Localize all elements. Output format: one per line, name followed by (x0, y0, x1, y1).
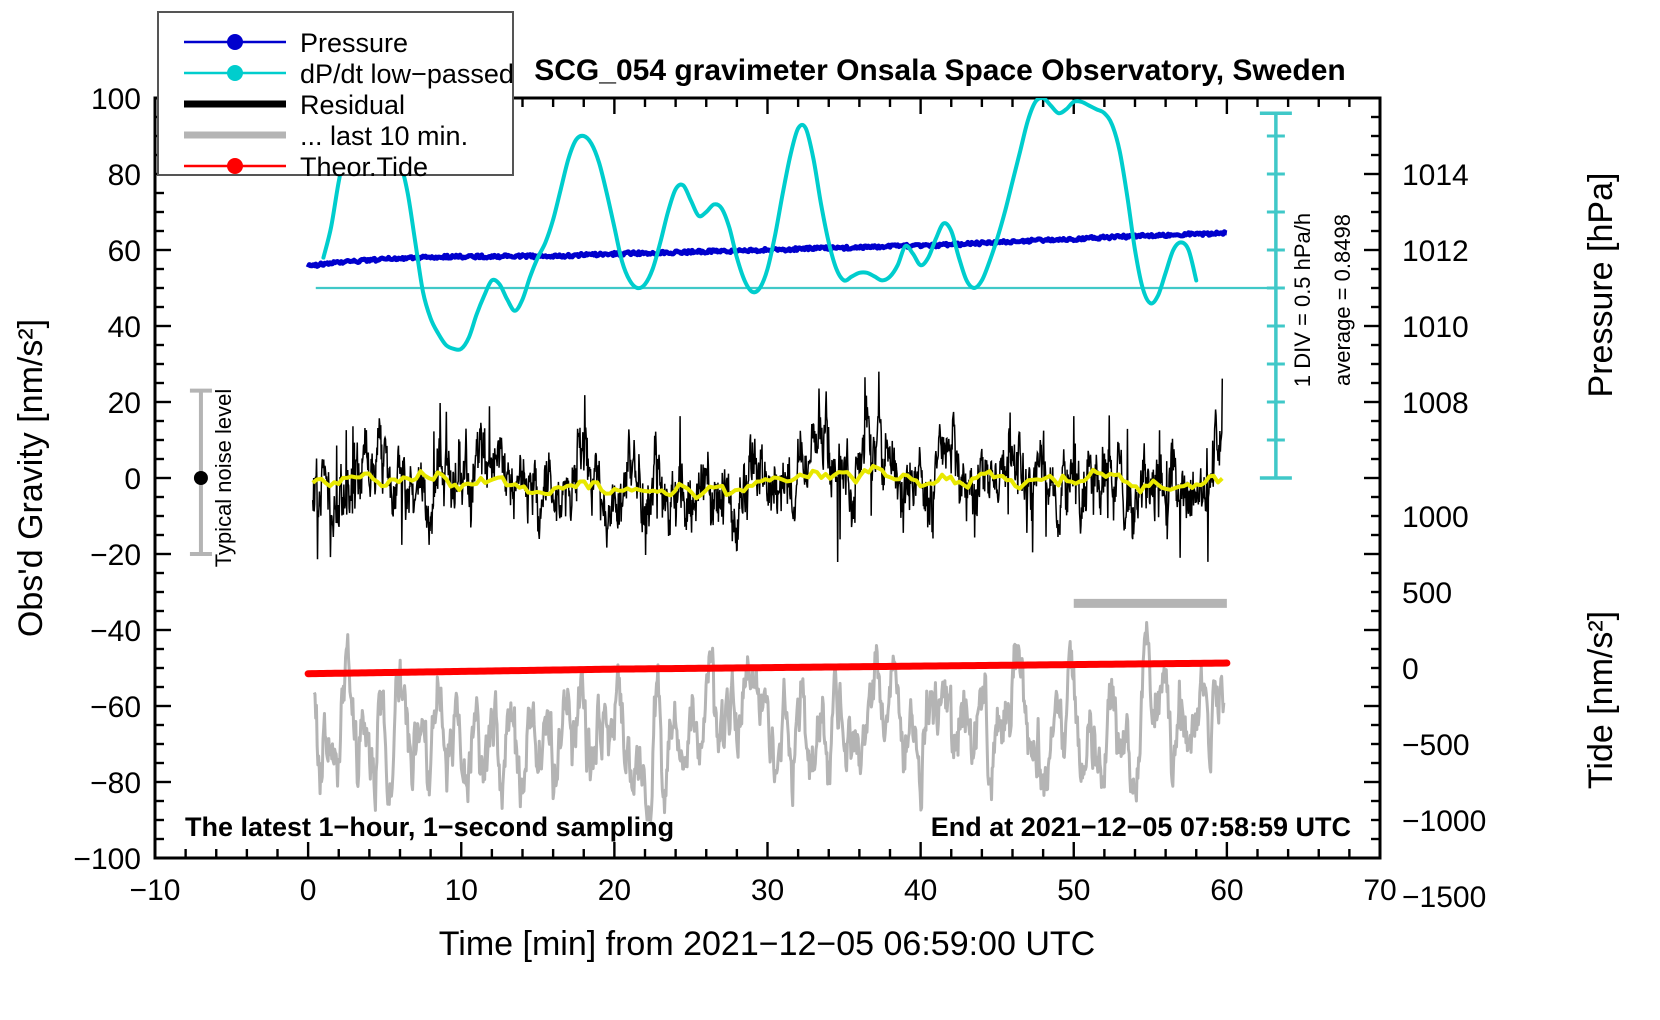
y-tick-label: 100 (91, 83, 141, 116)
tide-tick-label: −1500 (1402, 881, 1486, 914)
legend-marker-0[interactable] (227, 34, 243, 50)
x-tick-label: −10 (130, 874, 181, 907)
legend-marker-4[interactable] (227, 158, 243, 174)
y-tick-label: 80 (108, 159, 141, 192)
footer-note-left: The latest 1−hour, 1−second sampling (185, 812, 674, 842)
pressure-tick-label: 1012 (1402, 235, 1469, 268)
legend-label-3[interactable]: ... last 10 min. (300, 121, 468, 151)
tide-tick-label: 1000 (1402, 501, 1469, 534)
legend-marker-1[interactable] (227, 65, 243, 81)
noise-level-label: Typical noise level (211, 389, 236, 568)
legend-label-0[interactable]: Pressure (300, 28, 408, 58)
pressure-tick-label: 1014 (1402, 159, 1469, 192)
y-tick-label: −80 (90, 767, 141, 800)
noise-level-dot (194, 471, 208, 485)
tide-tick-label: −500 (1402, 729, 1470, 762)
legend-label-1[interactable]: dP/dt low−passed (300, 59, 514, 89)
x-tick-label: 20 (598, 874, 631, 907)
tide-tick-label: 0 (1402, 653, 1419, 686)
pressure-tick-label: 1010 (1402, 311, 1469, 344)
y-tick-label: 40 (108, 311, 141, 344)
x-tick-label: 60 (1210, 874, 1243, 907)
x-tick-label: 30 (751, 874, 784, 907)
y-tick-label: 60 (108, 235, 141, 268)
legend-label-4[interactable]: Theor.Tide (300, 152, 428, 182)
tide-tick-label: 500 (1402, 577, 1452, 610)
y-tick-label: −20 (90, 539, 141, 572)
y-tick-label: −100 (73, 843, 141, 876)
x-tick-label: 70 (1363, 874, 1396, 907)
x-tick-label: 40 (904, 874, 937, 907)
gravimeter-plot-page: −10010203040506070 100806040200−20−40−60… (0, 0, 1660, 1020)
legend[interactable]: PressuredP/dt low−passedResidual... last… (158, 12, 514, 182)
legend-label-2[interactable]: Residual (300, 90, 405, 120)
y-axis-left-title: Obs'd Gravity [nm/s²] (12, 319, 50, 637)
tide-tick-label: −1000 (1402, 805, 1486, 838)
x-tick-label: 50 (1057, 874, 1090, 907)
y-tick-label: −60 (90, 691, 141, 724)
scale-bar-average-label: average = 0.8498 (1330, 214, 1355, 386)
y-tick-label: −40 (90, 615, 141, 648)
plot-title: SCG_054 gravimeter Onsala Space Observat… (534, 54, 1346, 87)
footer-note-right: End at 2021−12−05 07:58:59 UTC (931, 812, 1351, 842)
y-tick-label: 0 (124, 463, 141, 496)
x-tick-label: 10 (445, 874, 478, 907)
scale-bar-div-label: 1 DIV = 0.5 hPa/h (1290, 213, 1315, 387)
gravimeter-figure: −10010203040506070 100806040200−20−40−60… (0, 0, 1660, 1020)
pressure-tick-label: 1008 (1402, 387, 1469, 420)
y-axis-tide-title: Tide [nm/s²] (1582, 611, 1620, 789)
y-tick-label: 20 (108, 387, 141, 420)
y-axis-pressure-title: Pressure [hPa] (1582, 173, 1620, 398)
x-axis-title: Time [min] from 2021−12−05 06:59:00 UTC (439, 925, 1095, 963)
x-tick-label: 0 (300, 874, 317, 907)
